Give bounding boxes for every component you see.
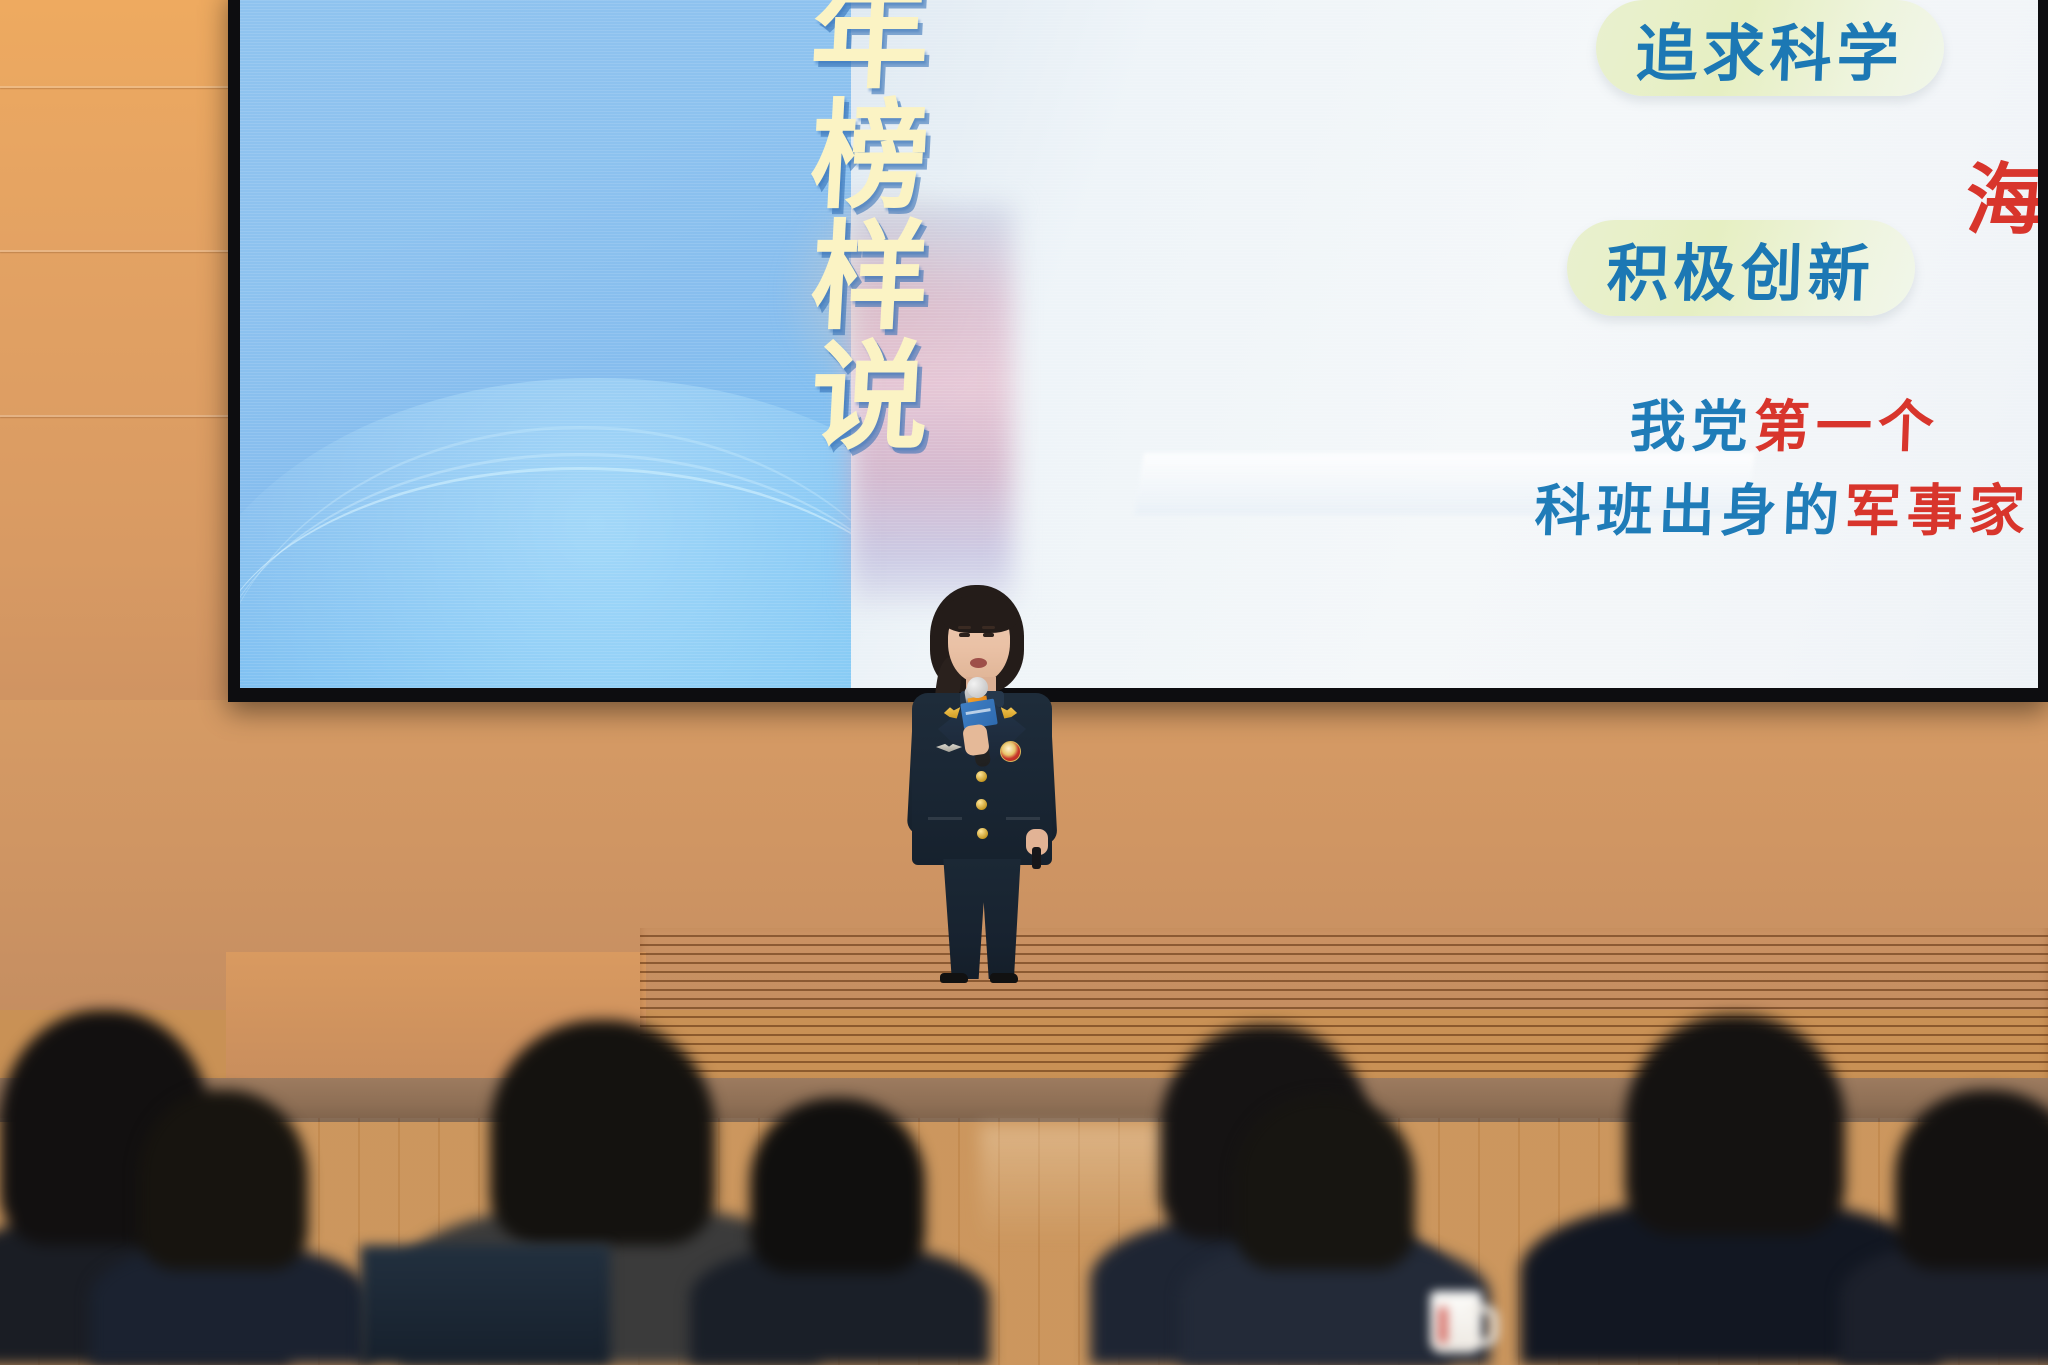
audience-member: [1870, 1115, 2048, 1365]
title-char-1: 年: [808, 0, 932, 96]
mouth: [970, 658, 987, 668]
audience-member: [120, 1115, 330, 1365]
head: [1625, 1015, 1845, 1235]
presentation-clicker: [1032, 847, 1041, 869]
slide-statement-line-2: 科班出身的军事家: [1534, 466, 2033, 547]
wall-seam: [0, 415, 250, 417]
title-char-3: 样: [808, 217, 932, 337]
shoe: [990, 973, 1018, 983]
title-char-4: 说: [808, 337, 932, 457]
audience-member: [1570, 1025, 1880, 1365]
slide-vertical-title: 年 榜 样 说: [785, 0, 955, 457]
head: [750, 1098, 925, 1273]
screenshot-root: 年 榜 样 说 追求科学 积极创新 我党第一个 科班出身的军事家 海: [0, 0, 2048, 1365]
hand-holding-microphone: [962, 723, 990, 756]
slide-statement-line-1: 我党第一个: [1629, 382, 1942, 463]
statement-segment-blue: 我党: [1629, 394, 1755, 460]
speaker-presenter: [880, 585, 1080, 975]
head: [138, 1090, 308, 1270]
wall-seam: [0, 86, 250, 88]
pocket-flap: [928, 817, 962, 820]
decorative-curve: [240, 467, 952, 688]
head: [1235, 1095, 1415, 1270]
wall-seam: [0, 250, 250, 252]
projection-screen: 年 榜 样 说 追求科学 积极创新 我党第一个 科班出身的军事家 海: [240, 0, 2038, 688]
eyebrow: [982, 626, 995, 629]
laptop-lid: [360, 1245, 610, 1365]
head: [490, 1020, 715, 1245]
hair-front: [942, 595, 1018, 633]
pocket-flap: [1006, 817, 1040, 820]
statement-segment-red: 军事家: [1844, 478, 2032, 544]
eyebrow: [958, 626, 971, 629]
title-char-2: 榜: [808, 96, 932, 216]
uniform-button: [976, 771, 987, 782]
head: [1895, 1090, 2048, 1270]
audience-member: [720, 1115, 950, 1365]
statement-segment-blue: 科班出身的: [1534, 478, 1846, 544]
pill-label: 积极创新: [1605, 223, 1876, 313]
round-medal-icon: [1000, 741, 1021, 762]
slide-pill-pursue-science: 追求科学: [1596, 0, 1944, 96]
audience-member: [1210, 1115, 1450, 1365]
eye: [959, 633, 970, 637]
statement-segment-red: 第一个: [1753, 394, 1941, 460]
mug-stripe: [1439, 1307, 1447, 1343]
projection-screen-bezel: 年 榜 样 说 追求科学 积极创新 我党第一个 科班出身的军事家 海: [228, 0, 2048, 702]
uniform-button: [976, 799, 987, 810]
white-mug: [1430, 1291, 1482, 1353]
trousers: [940, 859, 1024, 979]
decorative-curve: [240, 453, 952, 688]
slide-pill-innovate: 积极创新: [1567, 220, 1915, 316]
eye: [983, 633, 994, 637]
slide-edge-character: 海: [1964, 138, 2038, 250]
pill-label: 追求科学: [1634, 3, 1905, 93]
uniform-button: [977, 828, 988, 839]
shoe: [940, 973, 968, 983]
